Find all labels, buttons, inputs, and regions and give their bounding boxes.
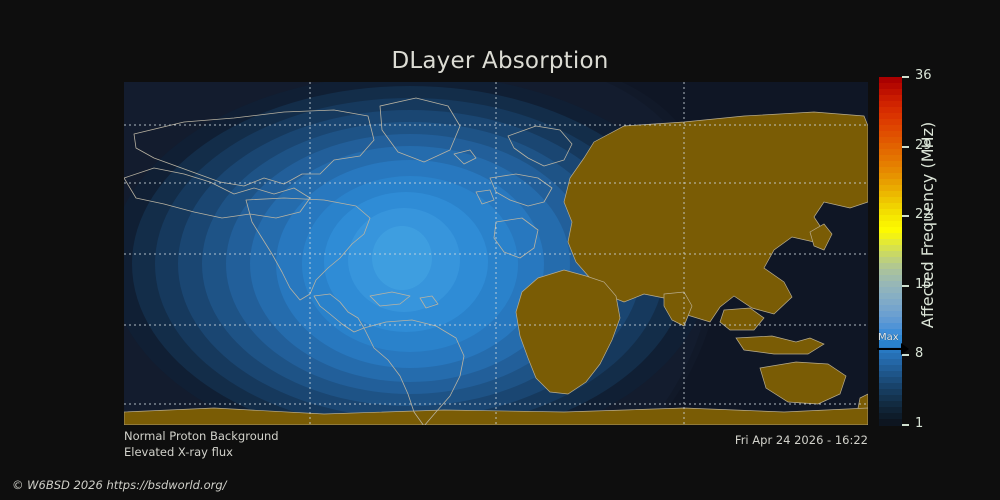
colorbar-tick-label: 1 (915, 416, 923, 432)
colorbar-band (879, 419, 902, 426)
colorbar-axis-label: Affected Frequency (MHz) (918, 0, 944, 60)
colorbar-gradient (879, 77, 902, 425)
tick-dash-icon (902, 354, 909, 356)
timestamp: Fri Apr 24 2026 - 16:22 (640, 433, 868, 447)
tick-dash-icon (902, 76, 909, 78)
colorbar (879, 77, 902, 425)
app-root: DLayer Absorption (0, 0, 1000, 500)
map-graphic (124, 82, 868, 425)
footer-credit: © W6BSD 2026 https://bsdworld.org/ (12, 478, 227, 492)
status-proton-background: Normal Proton Background (124, 429, 279, 445)
tick-dash-icon (902, 285, 909, 287)
page-title: DLayer Absorption (0, 48, 1000, 74)
world-map[interactable] (124, 82, 868, 425)
status-annotations: Normal Proton Background Elevated X-ray … (124, 429, 279, 460)
right-arrow-head-icon (901, 343, 909, 355)
status-xray-flux: Elevated X-ray flux (124, 445, 279, 461)
colorbar-axis-label-text: Affected Frequency (MHz) (918, 60, 937, 390)
tick-dash-icon (902, 146, 909, 148)
map-canvas (124, 82, 868, 425)
tick-dash-icon (902, 424, 909, 426)
tick-dash-icon (902, 215, 909, 217)
